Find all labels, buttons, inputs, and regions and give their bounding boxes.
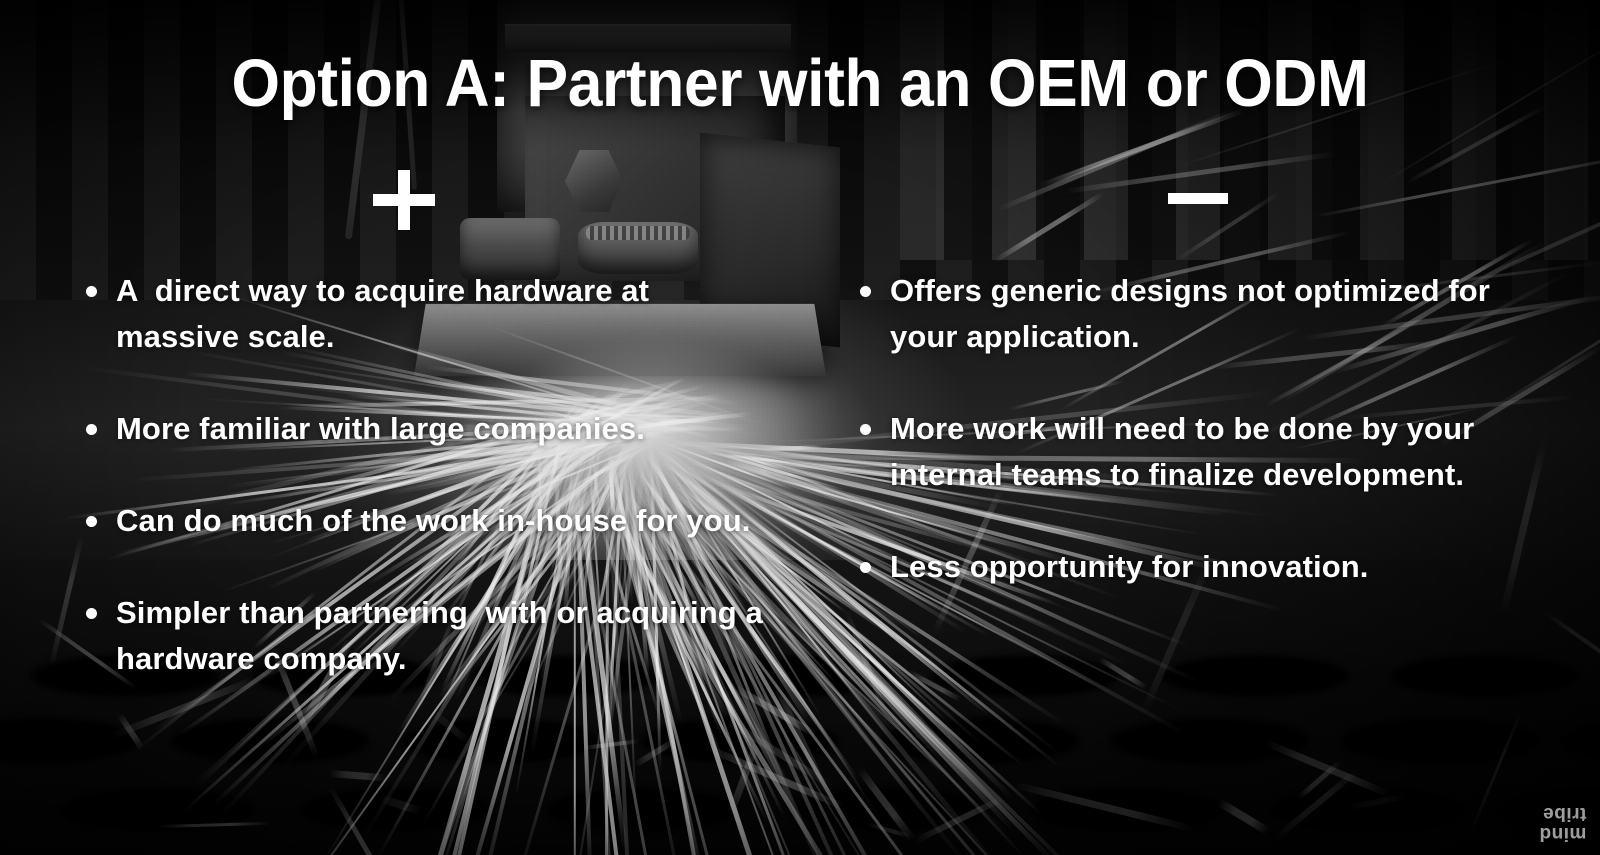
minus-icon: [1168, 193, 1228, 204]
list-item: Offers generic designs not optimized for…: [858, 268, 1558, 360]
list-item: Less opportunity for innovation.: [858, 544, 1558, 590]
pros-item-text: Simpler than partnering with or acquirin…: [116, 590, 774, 682]
bullet-dot-icon: [860, 562, 871, 573]
mindtribe-logo-watermark: mind tribe: [1539, 803, 1586, 843]
pros-item-text: Can do much of the work in-house for you…: [116, 498, 774, 544]
bullet-dot-icon: [86, 516, 97, 527]
watermark-line-2: tribe: [1539, 803, 1586, 823]
bullet-dot-icon: [860, 424, 871, 435]
plus-icon: [373, 168, 437, 232]
list-item: More familiar with large companies.: [84, 406, 774, 452]
pros-item-text: More familiar with large companies.: [116, 406, 774, 452]
bullet-dot-icon: [86, 608, 97, 619]
slide-canvas: Option A: Partner with an OEM or ODM A d…: [0, 0, 1600, 855]
bullet-dot-icon: [86, 424, 97, 435]
bullet-dot-icon: [86, 286, 97, 297]
pros-item-text: A direct way to acquire hardware at mass…: [116, 268, 774, 360]
slide-content: Option A: Partner with an OEM or ODM A d…: [0, 0, 1600, 855]
cons-item-text: Offers generic designs not optimized for…: [890, 268, 1558, 360]
watermark-line-1: mind: [1539, 823, 1586, 843]
list-item: More work will need to be done by your i…: [858, 406, 1558, 498]
bullet-dot-icon: [860, 286, 871, 297]
list-item: Can do much of the work in-house for you…: [84, 498, 774, 544]
cons-column: Offers generic designs not optimized for…: [858, 268, 1558, 590]
list-item: Simpler than partnering with or acquirin…: [84, 590, 774, 682]
slide-title: Option A: Partner with an OEM or ODM: [56, 48, 1544, 120]
pros-column: A direct way to acquire hardware at mass…: [84, 268, 774, 682]
cons-item-text: Less opportunity for innovation.: [890, 544, 1558, 590]
cons-item-text: More work will need to be done by your i…: [890, 406, 1558, 498]
column-symbols-row: [0, 168, 1600, 238]
list-item: A direct way to acquire hardware at mass…: [84, 268, 774, 360]
